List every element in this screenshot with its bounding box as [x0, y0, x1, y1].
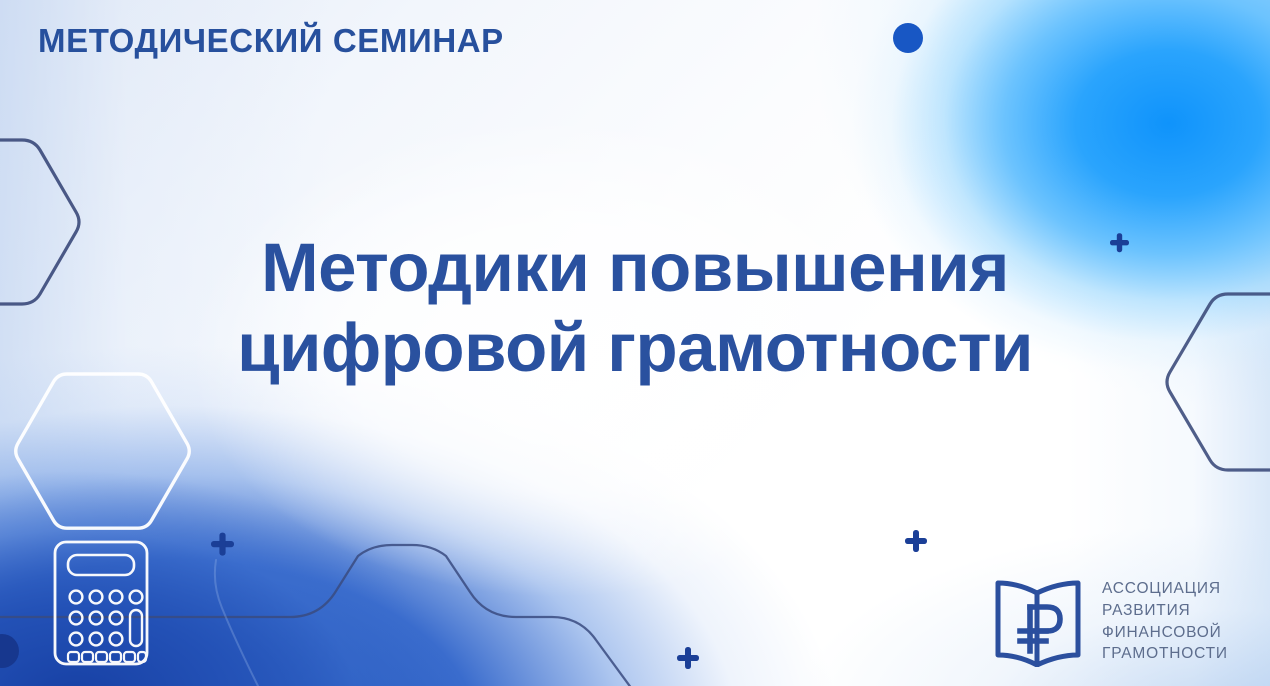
dot-top-right: [893, 23, 923, 53]
plus-mark-bottom-left: [211, 533, 234, 556]
logo-line-1: АССОЦИАЦИЯ: [1102, 579, 1228, 600]
hexagon-outline-white-left: [16, 374, 190, 528]
open-book-with-ruble-icon: [992, 575, 1084, 667]
plus-mark-bottom-right: [677, 647, 699, 669]
plus-mark-bottom-center: [905, 530, 927, 552]
association-logo: АССОЦИАЦИЯ РАЗВИТИЯ ФИНАНСОВОЙ ГРАМОТНОС…: [992, 575, 1228, 667]
slide-kicker: МЕТОДИЧЕСКИЙ СЕМИНАР: [38, 22, 504, 60]
logo-line-2: РАЗВИТИЯ: [1102, 601, 1228, 622]
logo-line-4: ГРАМОТНОСТИ: [1102, 644, 1228, 665]
calculator-icon: [55, 542, 147, 664]
presentation-slide: МЕТОДИЧЕСКИЙ СЕМИНАР Методики повышения …: [0, 0, 1270, 686]
slide-title-line-1: Методики повышения: [0, 228, 1270, 308]
slide-title: Методики повышения цифровой грамотности: [0, 228, 1270, 388]
slide-title-line-2: цифровой грамотности: [0, 308, 1270, 388]
wave-line-bottom: [0, 545, 640, 686]
wave-line-faint: [215, 560, 258, 686]
dot-left-edge: [0, 634, 19, 668]
logo-line-3: ФИНАНСОВОЙ: [1102, 623, 1228, 644]
logo-wordmark: АССОЦИАЦИЯ РАЗВИТИЯ ФИНАНСОВОЙ ГРАМОТНОС…: [1102, 577, 1228, 664]
